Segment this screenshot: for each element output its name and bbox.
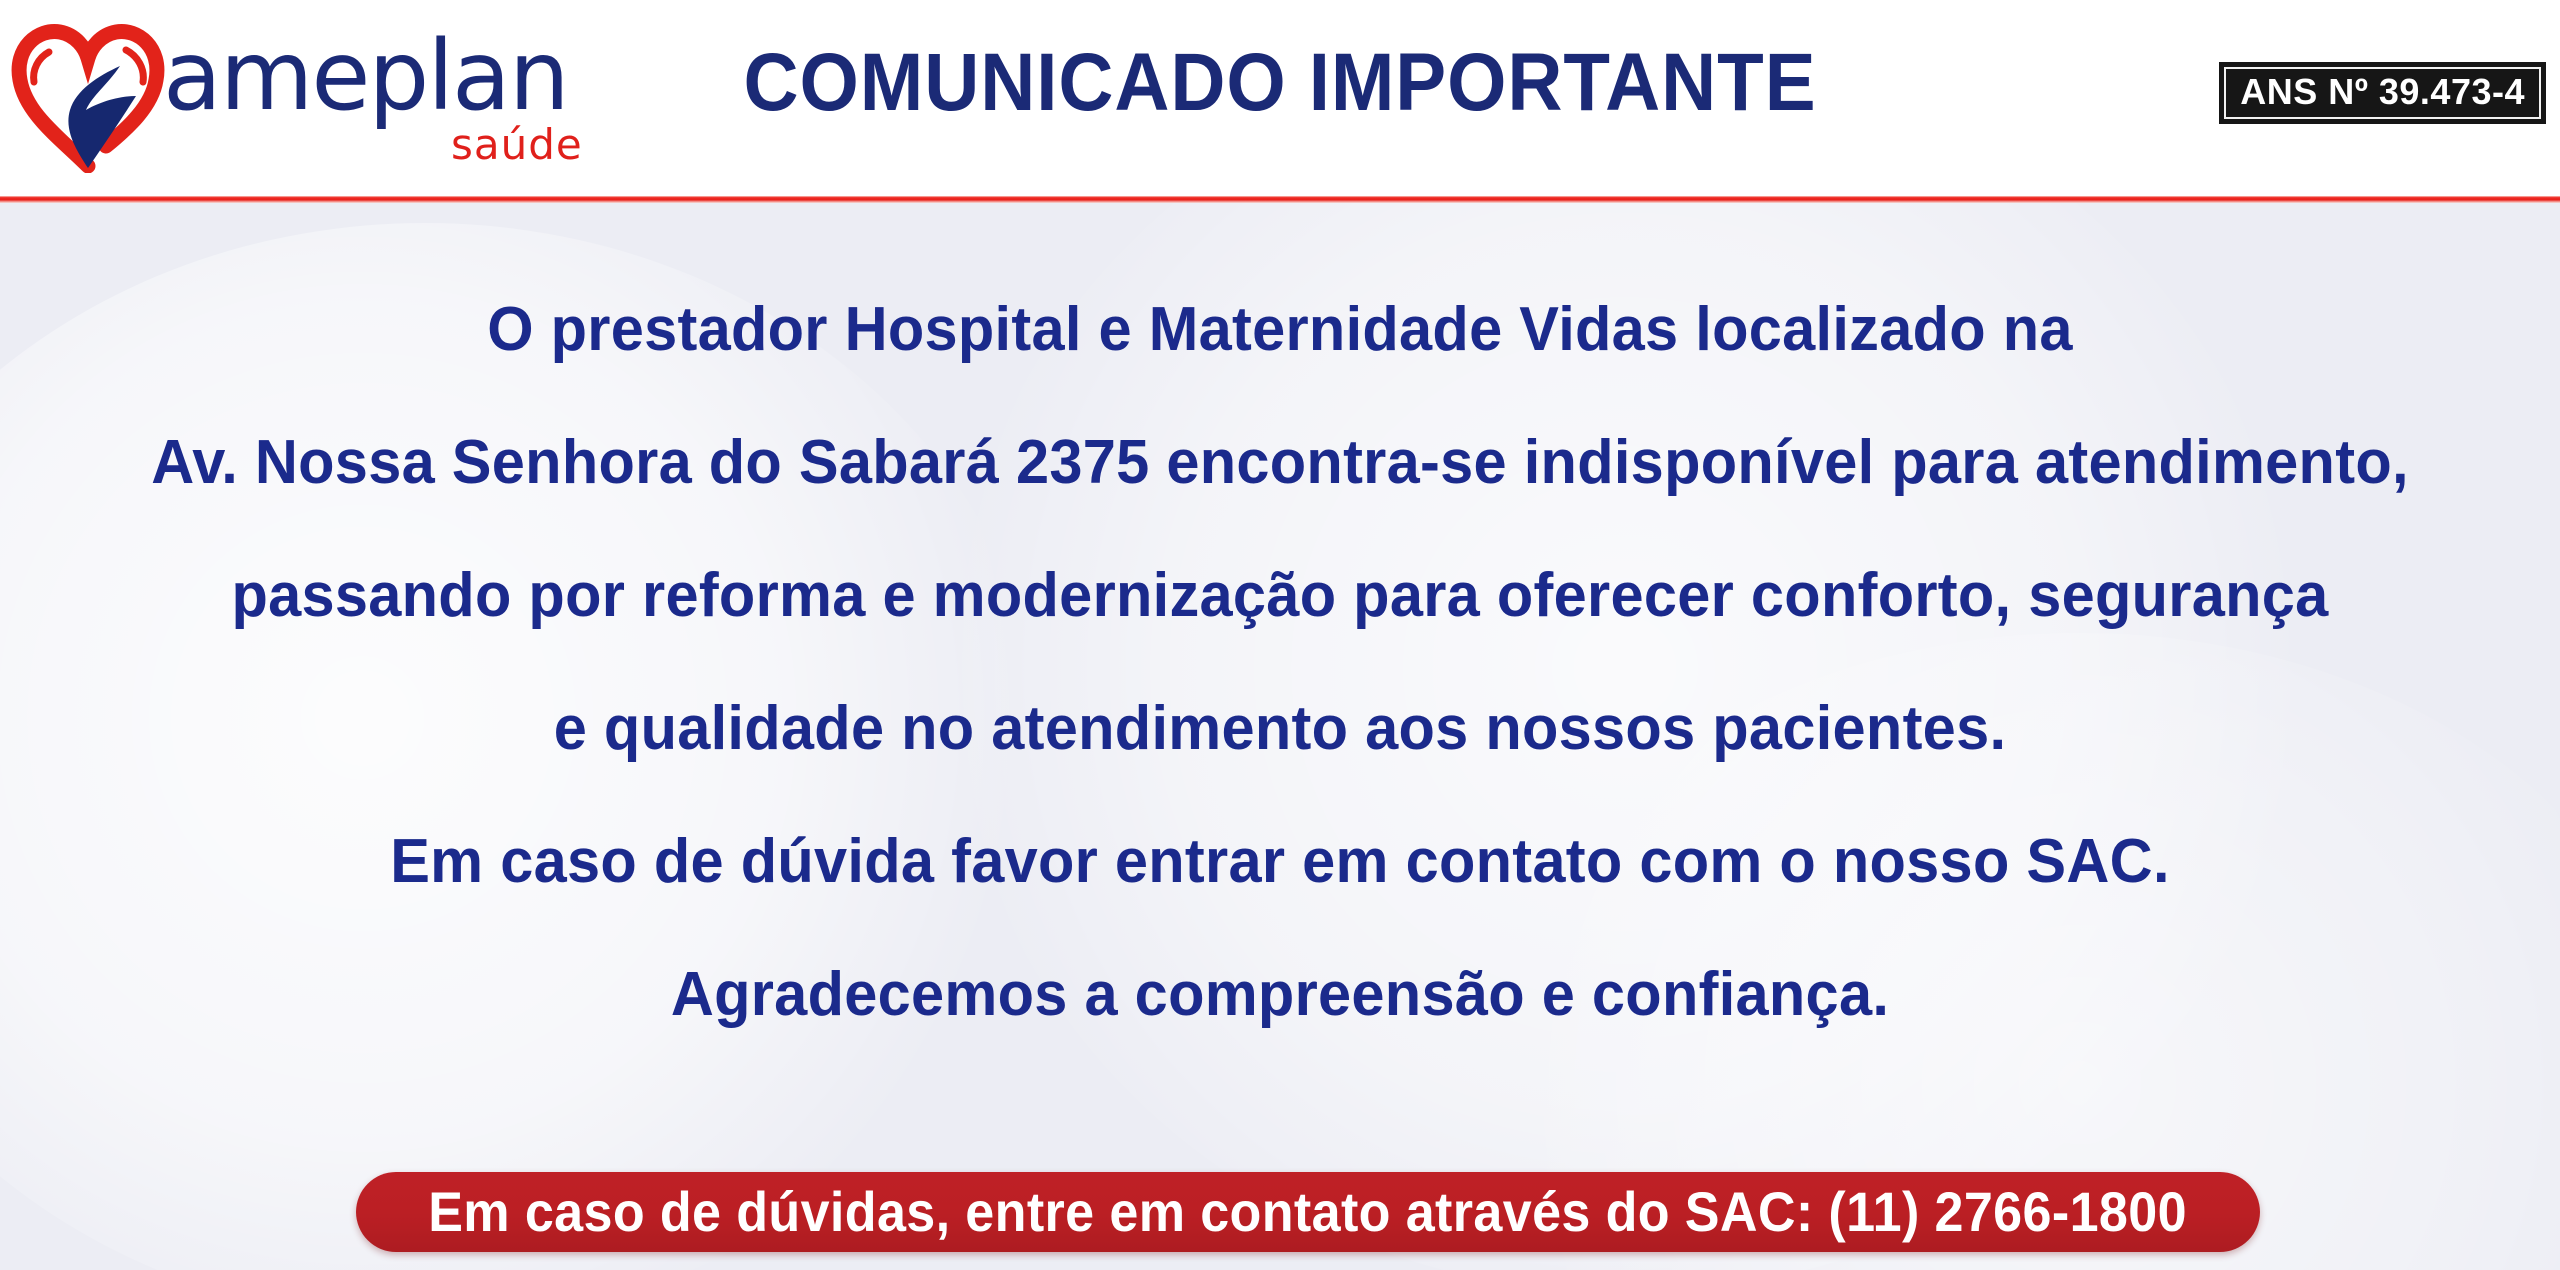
sac-contact-banner[interactable]: Em caso de dúvidas, entre em contato atr… (356, 1172, 2260, 1252)
notice-line: Agradecemos a compreensão e confiança. (51, 964, 2509, 1026)
ans-registration-label: ANS Nº 39.473-4 (2224, 67, 2541, 119)
notice-body: O prestador Hospital e Maternidade Vidas… (0, 203, 2560, 1270)
notice-line: O prestador Hospital e Maternidade Vidas… (51, 299, 2509, 361)
page-title: COMUNICADO IMPORTANTE (90, 36, 2471, 130)
ans-registration-badge: ANS Nº 39.473-4 (2219, 62, 2546, 124)
notice-line: Av. Nossa Senhora do Sabará 2375 encontr… (51, 432, 2509, 494)
notice-line: e qualidade no atendimento aos nossos pa… (51, 698, 2509, 760)
notice-line: Em caso de dúvida favor entrar em contat… (51, 831, 2509, 893)
communication-notice-page: ameplan saúde COMUNICADO IMPORTANTE ANS … (0, 0, 2560, 1270)
sac-contact-label: Em caso de dúvidas, entre em contato atr… (429, 1184, 2188, 1240)
header-divider (0, 196, 2560, 203)
brand-tagline: saúde (451, 124, 583, 166)
notice-message: O prestador Hospital e Maternidade Vidas… (0, 299, 2560, 1026)
notice-line: passando por reforma e modernização para… (51, 565, 2509, 627)
page-header: ameplan saúde COMUNICADO IMPORTANTE ANS … (0, 0, 2560, 198)
